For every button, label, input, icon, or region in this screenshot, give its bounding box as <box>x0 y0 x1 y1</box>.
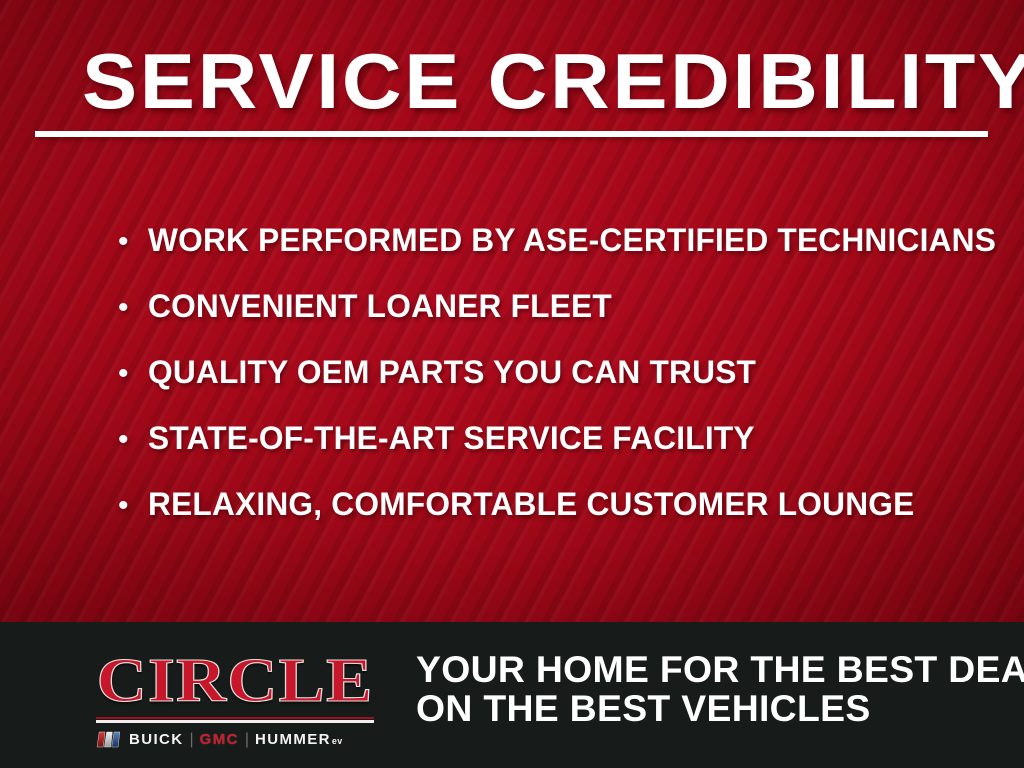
brand-lockup: BUICK | GMC | HUMMER ev <box>96 730 374 748</box>
bullet-marker-icon: • <box>118 491 148 521</box>
list-item: • RELAXING, COMFORTABLE CUSTOMER LOUNGE <box>118 486 998 552</box>
footer-tagline-line-1: YOUR HOME FOR THE BEST DEALS <box>416 650 1024 689</box>
bullet-marker-icon: • <box>118 227 148 257</box>
brand-hummer-ev-suffix: ev <box>332 736 343 746</box>
service-credibility-slide: SERVICE CREDIBILITY • WORK PERFORMED BY … <box>0 0 1024 768</box>
list-item-label: RELAXING, COMFORTABLE CUSTOMER LOUNGE <box>148 486 914 523</box>
bullet-marker-icon: • <box>118 425 148 455</box>
title-underline-rule <box>35 131 988 137</box>
buick-tri-shield-icon <box>96 731 122 748</box>
dealer-logo: CIRCLE <box>96 650 374 748</box>
page-title: SERVICE CREDIBILITY <box>82 40 1024 122</box>
dealer-wordmark: CIRCLE <box>79 650 390 712</box>
list-item: • WORK PERFORMED BY ASE-CERTIFIED TECHNI… <box>118 222 998 288</box>
list-item: • CONVENIENT LOANER FLEET <box>118 288 998 354</box>
brand-buick: BUICK <box>129 731 184 748</box>
logo-rule-red <box>96 717 374 719</box>
footer-tagline: YOUR HOME FOR THE BEST DEALS ON THE BEST… <box>416 650 1024 728</box>
footer-bar: CIRCLE <box>0 622 1024 768</box>
list-item: • QUALITY OEM PARTS YOU CAN TRUST <box>118 354 998 420</box>
brand-gmc: GMC <box>200 731 239 748</box>
brand-separator: | <box>245 731 249 748</box>
list-item-label: STATE-OF-THE-ART SERVICE FACILITY <box>148 420 755 457</box>
feature-bullet-list: • WORK PERFORMED BY ASE-CERTIFIED TECHNI… <box>118 222 998 552</box>
bullet-marker-icon: • <box>118 359 148 389</box>
logo-rule-white <box>96 720 374 723</box>
list-item-label: WORK PERFORMED BY ASE-CERTIFIED TECHNICI… <box>148 222 996 259</box>
list-item-label: QUALITY OEM PARTS YOU CAN TRUST <box>148 354 756 391</box>
list-item-label: CONVENIENT LOANER FLEET <box>148 288 612 325</box>
brand-hummer: HUMMER <box>255 731 331 748</box>
brand-separator: | <box>190 731 194 748</box>
list-item: • STATE-OF-THE-ART SERVICE FACILITY <box>118 420 998 486</box>
bullet-marker-icon: • <box>118 293 148 323</box>
footer-tagline-line-2: ON THE BEST VEHICLES <box>416 689 1024 728</box>
